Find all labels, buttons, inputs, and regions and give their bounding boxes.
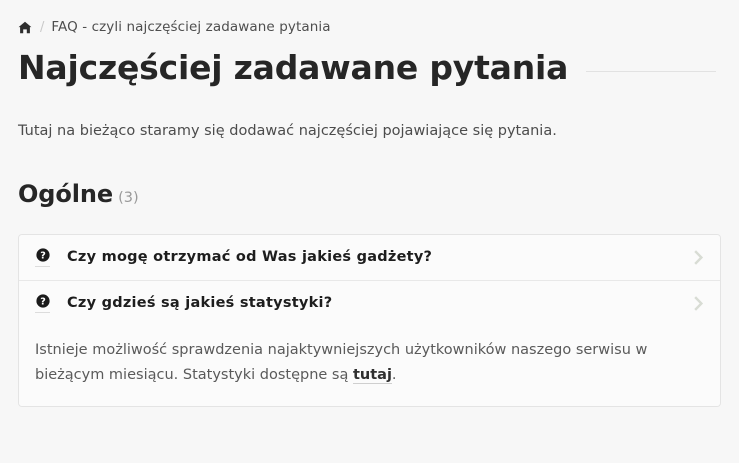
- section-count: (3): [118, 190, 139, 206]
- breadcrumb-separator: /: [40, 20, 44, 35]
- title-divider: [586, 71, 716, 72]
- faq-question-row-1[interactable]: ? Czy mogę otrzymać od Was jakieś gadżet…: [19, 235, 720, 280]
- faq-page: / FAQ - czyli najczęściej zadawane pytan…: [0, 0, 739, 463]
- chevron-right-icon[interactable]: [684, 296, 704, 311]
- page-title: Najczęściej zadawane pytania: [18, 50, 568, 87]
- faq-item: ? Czy mogę otrzymać od Was jakieś gadżet…: [19, 235, 720, 280]
- faq-answer-link[interactable]: tutaj: [353, 367, 392, 384]
- chevron-right-icon[interactable]: [684, 250, 704, 265]
- faq-answer-text-after: .: [392, 367, 397, 383]
- svg-text:?: ?: [40, 251, 46, 262]
- faq-question-text: Czy mogę otrzymać od Was jakieś gadżety?: [67, 249, 684, 266]
- breadcrumb-current: FAQ - czyli najczęściej zadawane pytania: [51, 19, 330, 35]
- section-heading-label: Ogólne: [18, 180, 113, 208]
- home-icon: [18, 21, 32, 34]
- section-heading: Ogólne(3): [18, 143, 721, 208]
- faq-question-text: Czy gdzieś są jakieś statystyki?: [67, 295, 684, 312]
- faq-item: ? Czy gdzieś są jakieś statystyki? Istni…: [19, 280, 720, 406]
- faq-panel: ? Czy mogę otrzymać od Was jakieś gadżet…: [18, 234, 721, 407]
- faq-answer-panel: Istnieje możliwość sprawdzenia najaktywn…: [19, 326, 720, 406]
- page-title-row: Najczęściej zadawane pytania: [18, 50, 721, 87]
- faq-answer-text-before: Istnieje możliwość sprawdzenia najaktywn…: [35, 342, 647, 383]
- svg-text:?: ?: [40, 297, 46, 308]
- breadcrumb: / FAQ - czyli najczęściej zadawane pytan…: [18, 0, 721, 46]
- breadcrumb-home-link[interactable]: [18, 21, 32, 34]
- question-circle-icon: ?: [35, 248, 50, 267]
- intro-paragraph: Tutaj na bieżąco staramy się dodawać naj…: [18, 87, 721, 143]
- faq-question-row-2[interactable]: ? Czy gdzieś są jakieś statystyki?: [19, 281, 720, 326]
- question-circle-icon: ?: [35, 294, 50, 313]
